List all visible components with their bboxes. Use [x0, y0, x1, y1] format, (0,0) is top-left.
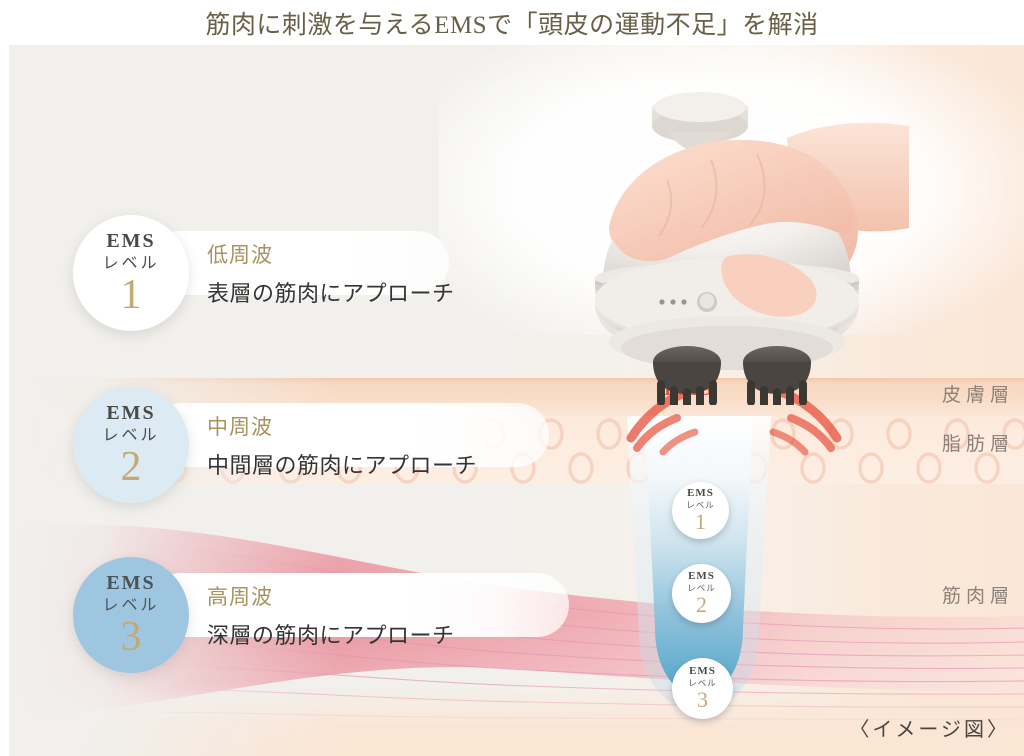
level-circle-level-text: レベル [102, 598, 159, 614]
level-1-frequency: 低周波 [207, 239, 455, 269]
level-3-texts: 高周波 深層の筋肉にアプローチ [207, 581, 455, 650]
scalp-massager-device-photo [569, 60, 909, 405]
beam-badge-ems-text: EMS [688, 571, 715, 582]
level-1-texts: 低周波 表層の筋肉にアプローチ [207, 239, 455, 308]
level-row-3: EMS レベル 3 高周波 深層の筋肉にアプローチ [73, 557, 455, 673]
level-3-circle: EMS レベル 3 [73, 557, 189, 673]
beam-badge-number: 1 [695, 511, 706, 533]
brush-head-left [653, 346, 721, 405]
level-2-texts: 中周波 中間層の筋肉にアプローチ [207, 411, 477, 480]
header-bar: 筋肉に刺激を与えるEMSで「頭皮の運動不足」を解消 [0, 0, 1024, 45]
layer-label-fat: 脂肪層 [942, 429, 1014, 456]
level-2-description: 中間層の筋肉にアプローチ [207, 448, 477, 480]
level-circle-number: 1 [121, 274, 142, 316]
level-1-circle: EMS レベル 1 [73, 215, 189, 331]
level-3-description: 深層の筋肉にアプローチ [207, 618, 455, 650]
level-3-frequency: 高周波 [207, 581, 455, 611]
illustration-canvas: 皮膚層 脂肪層 筋肉層 [9, 45, 1024, 756]
level-row-2: EMS レベル 2 中周波 中間層の筋肉にアプローチ [73, 387, 477, 503]
level-circle-number: 2 [121, 446, 142, 488]
level-1-description: 表層の筋肉にアプローチ [207, 276, 455, 308]
level-circle-level-text: レベル [102, 428, 159, 444]
beam-badge-level-1: EMS レベル 1 [672, 482, 729, 539]
page-root: 筋肉に刺激を与えるEMSで「頭皮の運動不足」を解消 [0, 0, 1024, 756]
level-2-frequency: 中周波 [207, 411, 477, 441]
level-circle-level-text: レベル [102, 256, 159, 272]
level-2-circle: EMS レベル 2 [73, 387, 189, 503]
image-caption: 〈イメージ図〉 [849, 713, 1010, 742]
beam-badge-level-2: EMS レベル 2 [672, 564, 731, 623]
beam-badge-ems-text: EMS [689, 666, 716, 677]
layer-label-muscle: 筋肉層 [942, 581, 1014, 608]
level-circle-ems-text: EMS [106, 573, 155, 593]
level-row-1: EMS レベル 1 低周波 表層の筋肉にアプローチ [73, 215, 455, 331]
level-circle-ems-text: EMS [106, 231, 155, 251]
page-title: 筋肉に刺激を与えるEMSで「頭皮の運動不足」を解消 [205, 5, 818, 41]
brush-head-right [743, 346, 811, 405]
level-circle-number: 3 [121, 616, 142, 658]
layer-label-skin: 皮膚層 [942, 380, 1014, 407]
level-circle-ems-text: EMS [106, 403, 155, 423]
beam-badge-level-3: EMS レベル 3 [672, 658, 733, 719]
beam-badge-number: 2 [696, 594, 707, 616]
beam-badge-ems-text: EMS [687, 488, 714, 499]
beam-badge-number: 3 [697, 689, 708, 711]
